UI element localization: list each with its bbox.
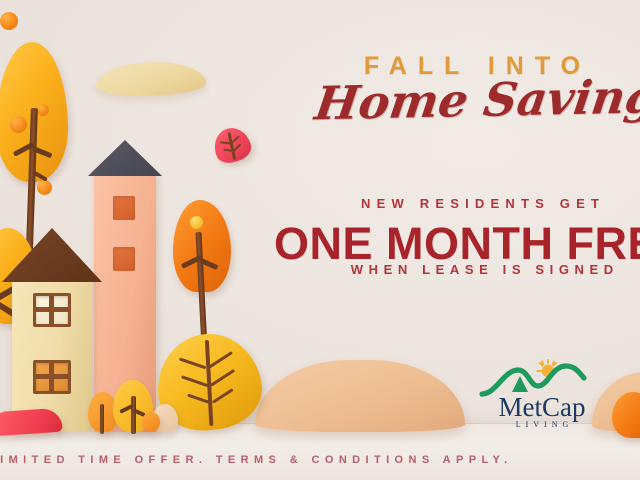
headline-script: Home Savings! xyxy=(312,74,639,127)
disclaimer-text: LIMITED TIME OFFER. TERMS & CONDITIONS A… xyxy=(0,454,513,466)
cloud-shape xyxy=(96,62,206,96)
sand-dune-center xyxy=(255,360,465,432)
berry-top-corner xyxy=(0,12,18,30)
red-leaf xyxy=(210,123,255,166)
offer-subline: WHEN LEASE IS SIGNED xyxy=(312,262,640,277)
headline-kicker: FALL INTO xyxy=(322,52,622,81)
offer-eyebrow: NEW RESIDENTS GET xyxy=(330,196,630,211)
promotional-ad-banner: FALL INTO Home Savings! NEW RESIDENTS GE… xyxy=(0,0,640,480)
peach-house-window-lower xyxy=(113,247,135,271)
peach-house-window-upper xyxy=(113,196,135,220)
metcap-living-logo[interactable]: MetCap LIVING xyxy=(476,358,608,436)
orange-tree-dot xyxy=(190,216,203,229)
red-clay-wedge xyxy=(0,408,63,437)
cream-house-window-upper xyxy=(33,293,71,327)
bush-trunk-2 xyxy=(131,396,136,434)
bush-trunk-1 xyxy=(100,404,104,434)
peach-house-roof xyxy=(88,140,162,176)
hill-peak-icon xyxy=(512,376,528,392)
hill-wave-icon xyxy=(482,366,584,394)
offer-headline: ONE MONTH FREE xyxy=(274,218,640,270)
logo-tagline: LIVING xyxy=(476,420,608,429)
pumpkin-orange xyxy=(142,412,160,432)
logo-wordmark: MetCap xyxy=(476,394,608,421)
cream-house-window-lower xyxy=(33,360,71,394)
